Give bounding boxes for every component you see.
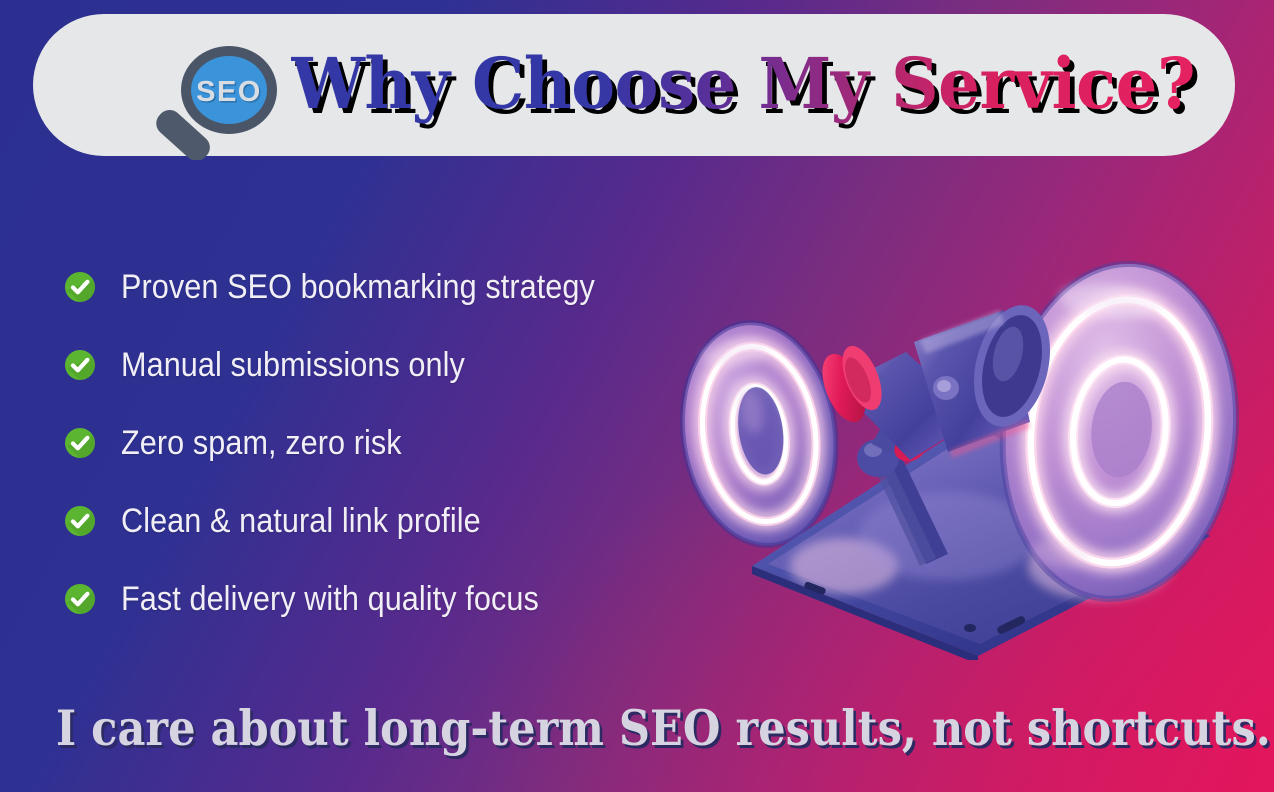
list-item: Zero spam, zero risk: [64, 404, 684, 482]
page-title: Why Choose My Service? Why Choose My Ser…: [291, 38, 1024, 130]
magnifying-glass-icon: SEO SEO: [137, 38, 285, 160]
list-item-label: Proven SEO bookmarking strategy: [121, 268, 595, 307]
list-item: Manual submissions only: [64, 326, 684, 404]
list-item-label: Clean & natural link profile: [121, 502, 481, 541]
list-item: Proven SEO bookmarking strategy: [64, 248, 684, 326]
list-item-label: Manual submissions only: [121, 346, 465, 385]
check-circle-icon: [64, 349, 96, 381]
page-title-fill: Why Choose My Service?: [291, 38, 1195, 130]
list-item-label: Fast delivery with quality focus: [121, 580, 539, 619]
header-banner: SEO SEO Why Choose My Service? Why Choos…: [33, 14, 1235, 156]
benefits-list: Proven SEO bookmarking strategy Manual s…: [64, 248, 684, 638]
check-circle-icon: [64, 271, 96, 303]
lens-label: SEO: [196, 76, 262, 108]
list-item: Fast delivery with quality focus: [64, 560, 684, 638]
tagline: I care about long-term SEO results, not …: [56, 697, 989, 759]
list-item-label: Zero spam, zero risk: [121, 424, 402, 463]
tagline-text: I care about long-term SEO results, not …: [56, 697, 1271, 759]
neon-target-ring-small: [668, 313, 850, 556]
megaphone-smartphone-illustration: [648, 236, 1274, 660]
check-circle-icon: [64, 505, 96, 537]
list-item: Clean & natural link profile: [64, 482, 684, 560]
check-circle-icon: [64, 427, 96, 459]
check-circle-icon: [64, 583, 96, 615]
promo-card: SEO SEO Why Choose My Service? Why Choos…: [0, 0, 1274, 792]
